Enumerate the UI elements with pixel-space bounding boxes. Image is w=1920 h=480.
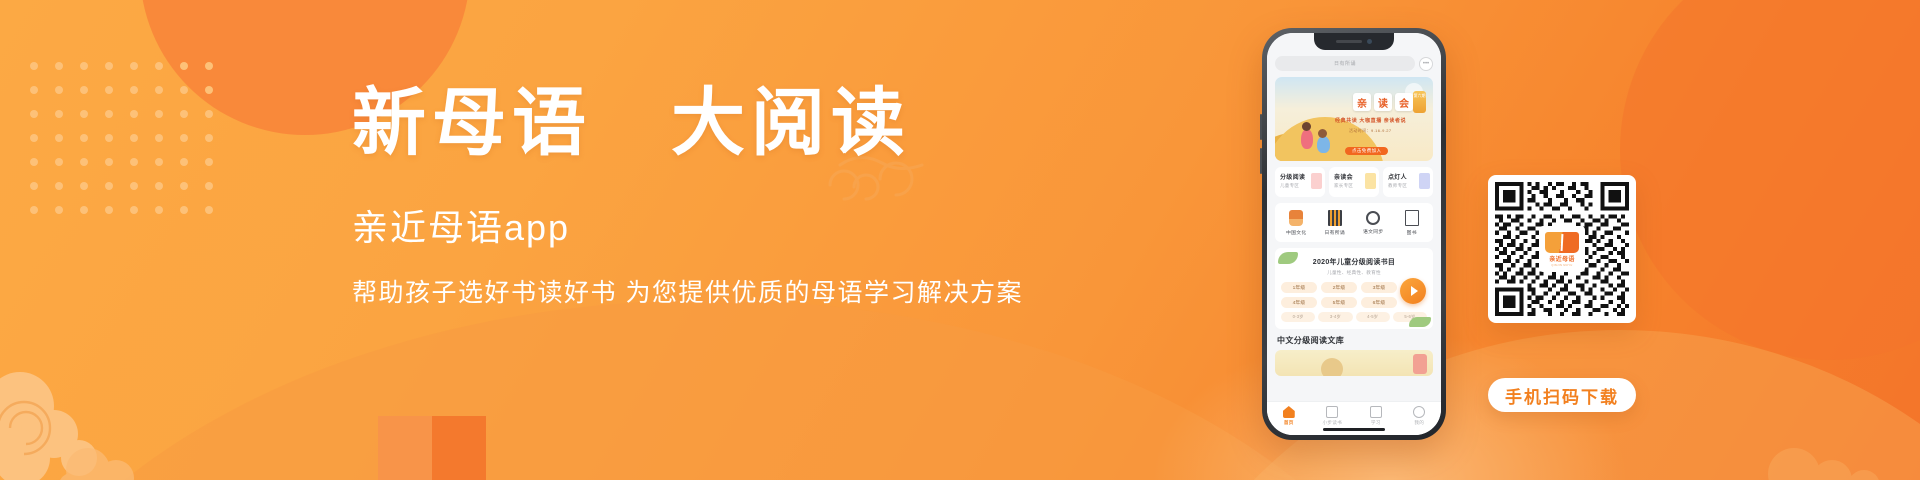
tab-label: 首页 xyxy=(1284,420,1294,426)
ruyi-cloud-icon xyxy=(0,366,124,480)
ruyi-cloud-small-icon xyxy=(60,440,150,480)
wave-decoration-bottom xyxy=(0,300,1460,480)
booklist-subtitle: 儿童性、经典性、教育性 xyxy=(1281,270,1427,276)
grade-pill[interactable]: 6年级 xyxy=(1361,297,1397,308)
search-input[interactable]: 日有所诵 xyxy=(1275,56,1415,71)
tagline: 帮助孩子选好书读好书 为您提供优质的母语学习解决方案 xyxy=(352,277,1012,310)
download-button[interactable]: 手机扫码下载 xyxy=(1488,378,1636,412)
hero-title-char-1: 读 xyxy=(1374,93,1392,111)
grade-pill[interactable]: 2年级 xyxy=(1321,282,1357,293)
bookmark-pink-icon xyxy=(1311,173,1322,189)
home-icon xyxy=(1283,406,1295,418)
blob-purple-icon xyxy=(1419,173,1430,189)
hero-title-char-0: 亲 xyxy=(1353,93,1371,111)
book-icon xyxy=(1405,210,1419,226)
phone-notch xyxy=(1314,33,1394,50)
phone-screen-frame: 日有所诵 ••• 亲 读 会 第六期 xyxy=(1267,33,1441,435)
category-card-graded-reading[interactable]: 分级阅读 儿童专区 xyxy=(1275,167,1325,197)
hero-badge: 第六期 xyxy=(1413,91,1426,113)
cube-decoration xyxy=(378,416,486,480)
qr-logo-subtext: QINJIN MUYU xyxy=(1551,264,1572,267)
grade-pill[interactable]: 5年级 xyxy=(1321,297,1357,308)
open-book-icon xyxy=(1545,232,1579,253)
headline-part1: 新母语 xyxy=(352,83,592,165)
tab-label: 学习 xyxy=(1371,420,1381,426)
search-row: 日有所诵 ••• xyxy=(1275,56,1433,71)
qr-code[interactable]: 亲近母语 QINJIN MUYU xyxy=(1488,175,1636,323)
headline: 新母语 大阅读 xyxy=(352,86,1012,164)
category-cards: 分级阅读 儿童专区 亲读会 家长专区 点灯人 教师专区 xyxy=(1275,167,1433,197)
age-pill[interactable]: 4-5岁 xyxy=(1356,312,1390,322)
library-illustration-book xyxy=(1413,354,1427,374)
home-indicator xyxy=(1323,428,1385,431)
grade-pill[interactable]: 1年级 xyxy=(1281,282,1317,293)
check-icon xyxy=(1370,406,1382,418)
hero-subtitle: 经典共读 大咖直播 亲读者说 xyxy=(1335,117,1406,124)
quick-link-label: 日有所诵 xyxy=(1325,229,1345,236)
ruyi-cloud-corner-icon xyxy=(1760,430,1890,480)
quick-link-label: 语文同步 xyxy=(1363,228,1383,235)
headline-part2: 大阅读 xyxy=(671,83,911,165)
age-pill[interactable]: 3-4岁 xyxy=(1318,312,1352,322)
category-card-parent-club[interactable]: 亲读会 家长专区 xyxy=(1329,167,1379,197)
earpiece-speaker xyxy=(1336,40,1362,43)
tab-mine[interactable]: 我的 xyxy=(1399,406,1439,426)
quick-link-label: 图书 xyxy=(1407,229,1417,236)
app-screen: 日有所诵 ••• 亲 读 会 第六期 xyxy=(1267,33,1441,435)
play-triangle xyxy=(1411,286,1418,296)
booklist-title: 2020年儿童分级阅读书目 xyxy=(1281,257,1427,267)
list-icon xyxy=(1326,406,1338,418)
quick-links-row: 中国文化 日有所诵 语文同步 图书 xyxy=(1275,203,1433,242)
age-pill-grid: 0-3岁 3-4岁 4-5岁 5-6岁 xyxy=(1281,312,1427,322)
hero-banner[interactable]: 亲 读 会 第六期 经典共读 大咖直播 亲读者说 活动时间：9.16-9.27 … xyxy=(1275,77,1433,161)
child-illustration-b xyxy=(1317,136,1330,153)
promo-banner: 新母语 大阅读 亲近母语app 帮助孩子选好书读好书 为您提供优质的母语学习解决… xyxy=(0,0,1920,480)
phone-mockup: 日有所诵 ••• 亲 读 会 第六期 xyxy=(1262,28,1446,440)
grade-pill[interactable]: 3年级 xyxy=(1361,282,1397,293)
dot-grid-pattern xyxy=(30,62,230,230)
bookmark-yellow-icon xyxy=(1365,173,1376,189)
age-pill[interactable]: 0-3岁 xyxy=(1281,312,1315,322)
user-icon xyxy=(1413,406,1425,418)
qr-center-logo: 亲近母语 QINJIN MUYU xyxy=(1539,226,1585,272)
child-head-b xyxy=(1318,129,1327,138)
leaf-decoration-bottom xyxy=(1409,317,1431,327)
grade-pill[interactable]: 4年级 xyxy=(1281,297,1317,308)
qr-canvas: 亲近母语 QINJIN MUYU xyxy=(1495,182,1629,316)
quick-link-label: 中国文化 xyxy=(1286,229,1306,236)
library-section-title: 中文分级阅读文库 xyxy=(1277,335,1433,346)
hero-cta-button[interactable]: 点击免费加入 xyxy=(1345,147,1388,155)
quick-link-daily-recite[interactable]: 日有所诵 xyxy=(1316,210,1354,236)
child-head-a xyxy=(1302,122,1311,131)
ellipsis-icon[interactable]: ••• xyxy=(1419,57,1433,71)
hero-title: 亲 读 会 xyxy=(1353,93,1413,111)
booklist-card: 2020年儿童分级阅读书目 儿童性、经典性、教育性 1年级 2年级 3年级 4年… xyxy=(1275,248,1433,329)
library-card[interactable] xyxy=(1275,350,1433,376)
front-camera xyxy=(1367,39,1372,44)
lamp-icon xyxy=(1289,210,1303,226)
hero-date: 活动时间：9.16-9.27 xyxy=(1349,128,1392,134)
qr-logo-text: 亲近母语 xyxy=(1549,254,1575,263)
tab-reading[interactable]: 小步读书 xyxy=(1312,406,1352,426)
child-illustration-a xyxy=(1301,129,1313,149)
tab-label: 小步读书 xyxy=(1322,420,1342,426)
circle-arrow-icon xyxy=(1366,211,1380,225)
tab-study[interactable]: 学习 xyxy=(1356,406,1396,426)
library-illustration-ball xyxy=(1321,358,1343,376)
quick-link-textbook-sync[interactable]: 语文同步 xyxy=(1354,211,1392,235)
video-play-icon[interactable] xyxy=(1400,278,1426,304)
category-card-teacher[interactable]: 点灯人 教师专区 xyxy=(1383,167,1433,197)
circle-decoration-right xyxy=(1620,0,1920,360)
banner-copy: 新母语 大阅读 亲近母语app 帮助孩子选好书读好书 为您提供优质的母语学习解决… xyxy=(352,86,1012,309)
app-name: 亲近母语app xyxy=(352,206,1012,249)
quick-link-chinese-culture[interactable]: 中国文化 xyxy=(1277,210,1315,236)
tab-label: 我的 xyxy=(1414,420,1424,426)
quick-link-books[interactable]: 图书 xyxy=(1393,210,1431,236)
books-icon xyxy=(1328,210,1342,226)
tab-home[interactable]: 首页 xyxy=(1269,406,1309,426)
hero-title-char-2: 会 xyxy=(1395,93,1413,111)
